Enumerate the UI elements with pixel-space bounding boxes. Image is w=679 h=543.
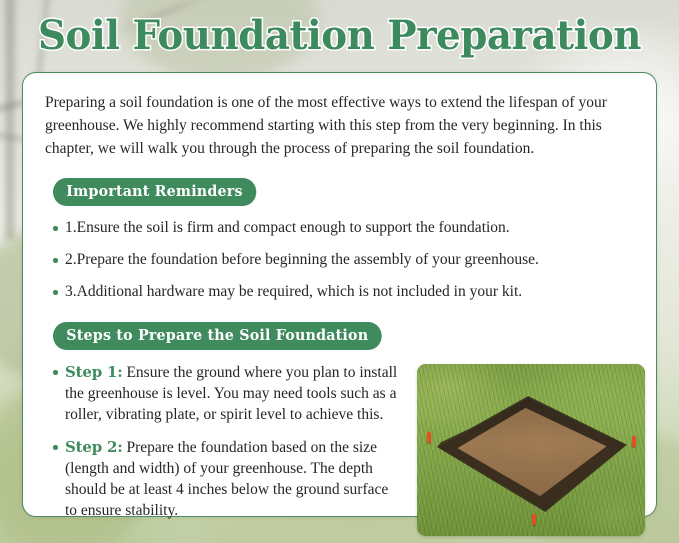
foundation-photo: Aerial view of a rectangular excavated s…	[417, 364, 645, 536]
steps-and-photo-row: Step 1: Ensure the ground where you plan…	[43, 362, 636, 536]
step-label: Step 1:	[65, 363, 123, 381]
photo-marker-stake-left	[427, 432, 431, 443]
content-card: Preparing a soil foundation is one of th…	[22, 72, 657, 517]
reminder-text: 2.Prepare the foundation before beginnin…	[65, 251, 539, 268]
manual-page: Soil Foundation Preparation Preparing a …	[0, 0, 679, 543]
bullet-dot-icon	[53, 258, 58, 263]
list-item: 2.Prepare the foundation before beginnin…	[43, 250, 636, 270]
reminders-list: 1.Ensure the soil is firm and compact en…	[43, 218, 636, 302]
list-item: 1.Ensure the soil is firm and compact en…	[43, 218, 636, 238]
steps-list: Step 1: Ensure the ground where you plan…	[43, 362, 403, 536]
photo-marker-stake-bottom	[532, 514, 536, 525]
photo-marker-stake-right	[632, 436, 636, 447]
list-item: Step 2: Prepare the foundation based on …	[43, 437, 403, 521]
bullet-dot-icon	[53, 226, 58, 231]
steps-heading-wrap: Steps to Prepare the Soil Foundation	[53, 322, 636, 350]
page-title: Soil Foundation Preparation	[10, 10, 669, 62]
step-label: Step 2:	[65, 438, 123, 456]
bullet-dot-icon	[53, 370, 58, 375]
list-item: 3.Additional hardware may be required, w…	[43, 282, 636, 302]
important-reminders-heading: Important Reminders	[53, 178, 256, 206]
important-reminders-heading-wrap: Important Reminders	[53, 178, 636, 206]
intro-paragraph: Preparing a soil foundation is one of th…	[45, 91, 634, 160]
steps-heading: Steps to Prepare the Soil Foundation	[53, 322, 382, 350]
list-item: Step 1: Ensure the ground where you plan…	[43, 362, 403, 425]
bullet-dot-icon	[53, 445, 58, 450]
reminder-text: 1.Ensure the soil is firm and compact en…	[65, 219, 510, 236]
bullet-dot-icon	[53, 290, 58, 295]
reminder-text: 3.Additional hardware may be required, w…	[65, 283, 522, 300]
